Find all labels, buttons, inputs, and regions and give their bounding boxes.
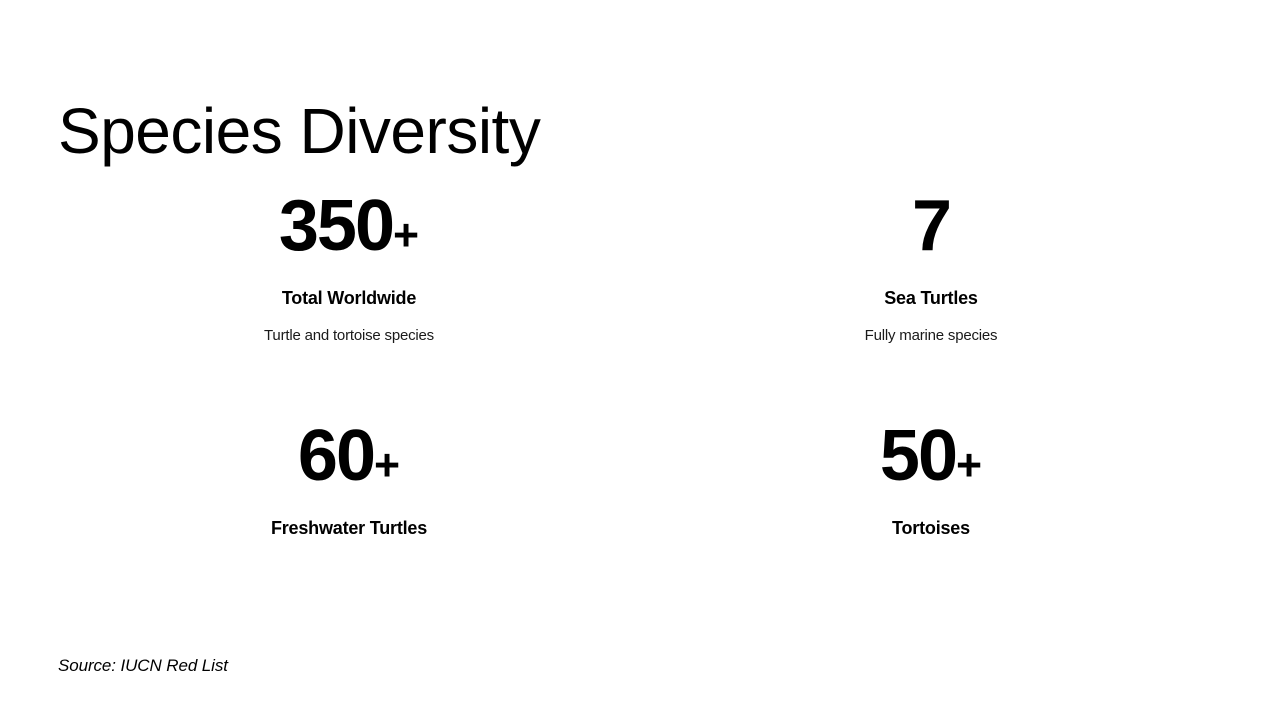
stat-value: 60+: [58, 420, 640, 492]
stat-description: Fully marine species: [640, 327, 1222, 345]
stat-value: 7: [640, 190, 1222, 262]
stat-value-suffix: +: [374, 441, 400, 490]
source-note: Source: IUCN Red List: [58, 656, 228, 676]
stat-description: Turtle and tortoise species: [58, 327, 640, 345]
stat-label: Sea Turtles: [640, 288, 1222, 310]
stat-block-sea-turtles: 7 Sea Turtles Fully marine species: [640, 190, 1222, 420]
stat-block-tortoises: 50+ Tortoises: [640, 420, 1222, 540]
stat-value: 50+: [640, 420, 1222, 492]
page-title: Species Diversity: [58, 99, 540, 163]
stat-label: Freshwater Turtles: [58, 518, 640, 540]
stat-value-number: 50: [880, 416, 956, 496]
stat-grid: 350+ Total Worldwide Turtle and tortoise…: [58, 190, 1222, 540]
stat-value-number: 60: [298, 416, 374, 496]
stat-value-suffix: +: [393, 211, 419, 260]
stat-value-suffix: +: [956, 441, 982, 490]
stat-value: 350+: [58, 190, 640, 262]
stat-block-total-worldwide: 350+ Total Worldwide Turtle and tortoise…: [58, 190, 640, 420]
stat-value-number: 350: [279, 186, 393, 266]
stat-label: Tortoises: [640, 518, 1222, 540]
stat-block-freshwater-turtles: 60+ Freshwater Turtles: [58, 420, 640, 540]
stat-value-number: 7: [912, 186, 950, 266]
slide-canvas: Species Diversity 350+ Total Worldwide T…: [0, 0, 1280, 720]
stat-label: Total Worldwide: [58, 288, 640, 310]
